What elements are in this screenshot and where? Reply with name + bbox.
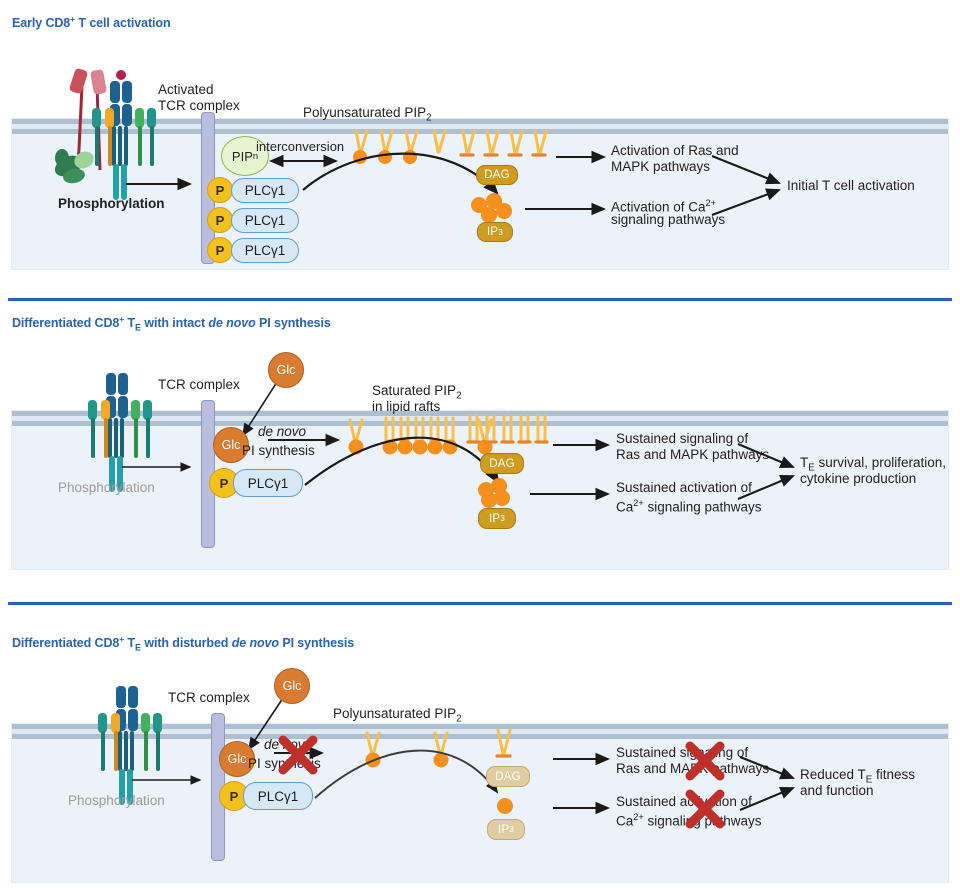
tcr-label-3: TCR complex [168, 690, 250, 706]
tcr-tm-1c [124, 126, 128, 166]
pip2-label-text-2: Saturated PIP [372, 383, 456, 398]
phospho-circle-1b: P [207, 207, 233, 233]
panel-2-title-post: PI synthesis [256, 316, 331, 330]
ip3-sub-3: 3 [509, 825, 514, 834]
ip3-tag-2: IP3 [478, 508, 516, 529]
membrane-inner-leaflet-2 [12, 421, 948, 426]
plc-label-1c: PLCγ1 [245, 243, 286, 258]
glc-top-label-2: Glc [277, 363, 296, 377]
mhc-arm-left-1 [69, 68, 89, 95]
tcr-beta-chain-2 [118, 373, 128, 395]
ip3-sub-1: 3 [498, 228, 503, 237]
tcr-alpha-chain-1 [110, 81, 120, 103]
panel-3-title: Differentiated CD8+ TE with disturbed de… [12, 634, 354, 653]
output-ras-line1-2: Sustained signaling of [616, 431, 748, 447]
cd3-zeta-3 [153, 713, 162, 733]
cd3-epsilon-stalk-2 [134, 418, 138, 458]
ip3-label-1: IP [487, 226, 498, 238]
pip2-label-sub-1: 2 [426, 113, 431, 124]
tcr-alpha-chain-3 [116, 686, 126, 708]
glc-mem-label-2: Glc [222, 438, 241, 452]
output-ca-sup-1: 2+ [706, 198, 716, 208]
dag-label-2: DAG [489, 458, 515, 470]
cd3-zeta-stalk-2 [146, 418, 150, 458]
tcr-beta-chain-1 [122, 81, 132, 103]
pip2-label-3: Polyunsaturated PIP2 [333, 706, 461, 727]
membrane-inner-leaflet-3 [12, 734, 948, 739]
output-ca-sup-3: 2+ [633, 812, 643, 822]
panel-divider-2 [8, 602, 952, 605]
output-ca-post-3: signaling pathways [644, 814, 762, 829]
final-outcome-1: Initial T cell activation [787, 178, 915, 194]
panel-2-title-mid: T [124, 316, 135, 330]
pi-synthesis-label-3: PI synthesis [248, 756, 321, 772]
output-ca-sup-2: 2+ [633, 498, 643, 508]
ip3-label-3: IP [498, 824, 509, 836]
ip3-label-2: IP [489, 513, 500, 525]
tcr-label-line2-1: TCR complex [158, 98, 240, 114]
tcr-beta-const-1 [122, 104, 132, 126]
output-ca-pre-2: Ca [616, 500, 633, 515]
panel-disturbed-de-novo: Differentiated CD8+ TE with disturbed de… [0, 620, 960, 892]
panel-early-activation: Early CD8+ T cell activation Act [0, 0, 960, 295]
panel-2-title-pre: Differentiated CD8 [12, 316, 119, 330]
panel-2-title-mid2: with intact [141, 316, 208, 330]
pip2-label-sub-3: 2 [456, 714, 461, 725]
mhc-arm-right-1 [90, 69, 107, 95]
plc-label-2: PLCγ1 [248, 476, 289, 491]
cd3-epsilon-2 [131, 400, 140, 420]
output-ca-line1-3: Sustained activation of [616, 794, 752, 810]
tcr-tm-3a [118, 731, 122, 771]
output-ras-line2-3: Ras and MAPK pathways [616, 761, 769, 777]
tcr-tm-2a [108, 418, 112, 458]
cd3-gamma-3 [98, 713, 107, 733]
cd3-gamma-2 [88, 400, 97, 420]
cd3-gamma-stalk-1 [95, 126, 99, 166]
de-novo-label-3: de novo [264, 737, 312, 753]
tcr-beta-chain-3 [128, 686, 138, 708]
plc-gamma-2: PLCγ1 [233, 469, 303, 497]
tcr-tm-2b [114, 418, 118, 458]
cd3-zeta-2 [143, 400, 152, 420]
pi-synthesis-label-2: PI synthesis [242, 443, 315, 459]
de-novo-label-2: de novo [258, 424, 306, 440]
p-label-2: P [220, 476, 229, 491]
pip2-label-1: Polyunsaturated PIP2 [303, 105, 431, 126]
panel-3-title-mid: T [124, 636, 135, 650]
output-ca-pre-3: Ca [616, 814, 633, 829]
panel-3-title-mid2: with disturbed [141, 636, 232, 650]
interconversion-label-1: interconversion [256, 139, 344, 154]
cd3-delta-stalk-3 [114, 731, 118, 771]
phospho-circle-1c: P [207, 237, 233, 263]
phosphorylation-label-1: Phosphorylation [58, 196, 165, 212]
dag-tag-2: DAG [480, 453, 524, 474]
output-ras-line1-3: Sustained signaling of [616, 745, 748, 761]
dag-tag-3: DAG [486, 766, 530, 787]
cd3-epsilon-stalk-1 [138, 126, 142, 166]
output-ca-line2-1: signaling pathways [611, 212, 725, 228]
final-outcome-line2-2: cytokine production [800, 471, 916, 487]
dag-tag-1: DAG [476, 165, 518, 185]
cd3-zeta-1 [147, 108, 156, 128]
panel-2-title: Differentiated CD8+ TE with intact de no… [12, 314, 331, 333]
panel-3-title-post: PI synthesis [279, 636, 354, 650]
cd3-gamma-stalk-3 [101, 731, 105, 771]
cd3-epsilon-3 [141, 713, 150, 733]
glc-top-label-3: Glc [283, 679, 302, 693]
panel-1-title-post: T cell activation [75, 16, 170, 30]
cd3-epsilon-stalk-3 [144, 731, 148, 771]
tcr-label-line1-1: Activated [158, 82, 214, 98]
p-label-1b: P [216, 213, 225, 228]
ip3-sub-2: 3 [500, 514, 505, 523]
cd3-epsilon-1 [135, 108, 144, 128]
cd3-gamma-1 [92, 108, 101, 128]
tcr-tm-3b [124, 731, 128, 771]
cd3-delta-3 [111, 713, 120, 733]
glc-mem-label-3: Glc [228, 752, 247, 766]
cd3-gamma-stalk-2 [91, 418, 95, 458]
final-pre-2: T [800, 455, 808, 470]
cd3-delta-2 [101, 400, 110, 420]
final-post-2: survival, proliferation, [815, 455, 946, 470]
tcr-tm-1a [112, 126, 116, 166]
output-ras-line2-1: MAPK pathways [611, 159, 710, 175]
cd3-zeta-stalk-3 [156, 731, 160, 771]
pip2-label-line2-2: in lipid rafts [372, 399, 440, 415]
plc-gamma-1b: PLCγ1 [231, 208, 299, 233]
tcr-label-2: TCR complex [158, 377, 240, 393]
p-label-1a: P [216, 183, 225, 198]
glc-extracellular-2: Glc [268, 352, 304, 388]
tcr-tm-3c [130, 731, 134, 771]
cd3-delta-1 [105, 108, 114, 128]
output-ras-line1-1: Activation of Ras and [611, 143, 739, 159]
tcr-beta-const-2 [118, 396, 128, 418]
output-ca-line1-2: Sustained activation of [616, 480, 752, 496]
panel-1-title-pre: Early CD8 [12, 16, 70, 30]
tcr-tm-2c [120, 418, 124, 458]
plc-label-1b: PLCγ1 [245, 213, 286, 228]
phosphorylation-label-2: Phosphorylation [58, 480, 155, 496]
final-post-3: fitness [872, 767, 915, 782]
output-ras-line2-2: Ras and MAPK pathways [616, 447, 769, 463]
output-ca-line2-3: Ca2+ signaling pathways [616, 810, 762, 829]
plc-label-3: PLCγ1 [258, 789, 299, 804]
cd3-zeta-cyto-2 [121, 164, 127, 200]
dag-label-1: DAG [484, 169, 510, 181]
glc-extracellular-3: Glc [274, 668, 310, 704]
pip2-label-text-1: Polyunsaturated PIP [303, 105, 426, 120]
final-outcome-line2-3: and function [800, 783, 874, 799]
dag-label-3: DAG [495, 771, 521, 783]
cd3-zeta-stalk-1 [150, 126, 154, 166]
tcr-tm-1b [118, 126, 122, 166]
p-label-1c: P [216, 243, 225, 258]
panel-2-title-italic: de novo [208, 316, 255, 330]
pip2-label-sub-2: 2 [456, 391, 461, 402]
final-pre-3: Reduced T [800, 767, 866, 782]
phosphorylation-label-3: Phosphorylation [68, 793, 165, 809]
output-ca-post-2: signaling pathways [644, 500, 762, 515]
ip3-tag-1: IP3 [477, 222, 513, 242]
plc-gamma-3: PLCγ1 [243, 782, 313, 810]
plasma-membrane-2 [12, 411, 948, 428]
p-label-3: P [230, 789, 239, 804]
panel-1-title: Early CD8+ T cell activation [12, 14, 171, 30]
tcr-beta-const-3 [128, 709, 138, 731]
pip-n-label-1: PIP [232, 149, 253, 164]
output-ca-line2-2: Ca2+ signaling pathways [616, 496, 762, 515]
panel-intact-de-novo: Differentiated CD8+ TE with intact de no… [0, 300, 960, 600]
cd3-zeta-cyto-1 [113, 164, 119, 200]
cd3-delta-stalk-2 [104, 418, 108, 458]
panel-3-title-italic: de novo [232, 636, 279, 650]
ip3-tag-3: IP3 [487, 819, 525, 840]
plc-label-1a: PLCγ1 [245, 183, 286, 198]
cd3-delta-stalk-1 [108, 126, 112, 166]
panel-3-title-pre: Differentiated CD8 [12, 636, 119, 650]
plc-gamma-1a: PLCγ1 [231, 178, 299, 203]
plc-gamma-1c: PLCγ1 [231, 238, 299, 263]
tcr-alpha-chain-2 [106, 373, 116, 395]
pip2-label-text-3: Polyunsaturated PIP [333, 706, 456, 721]
antigen-dot-1 [116, 70, 126, 80]
phospho-circle-1a: P [207, 177, 233, 203]
